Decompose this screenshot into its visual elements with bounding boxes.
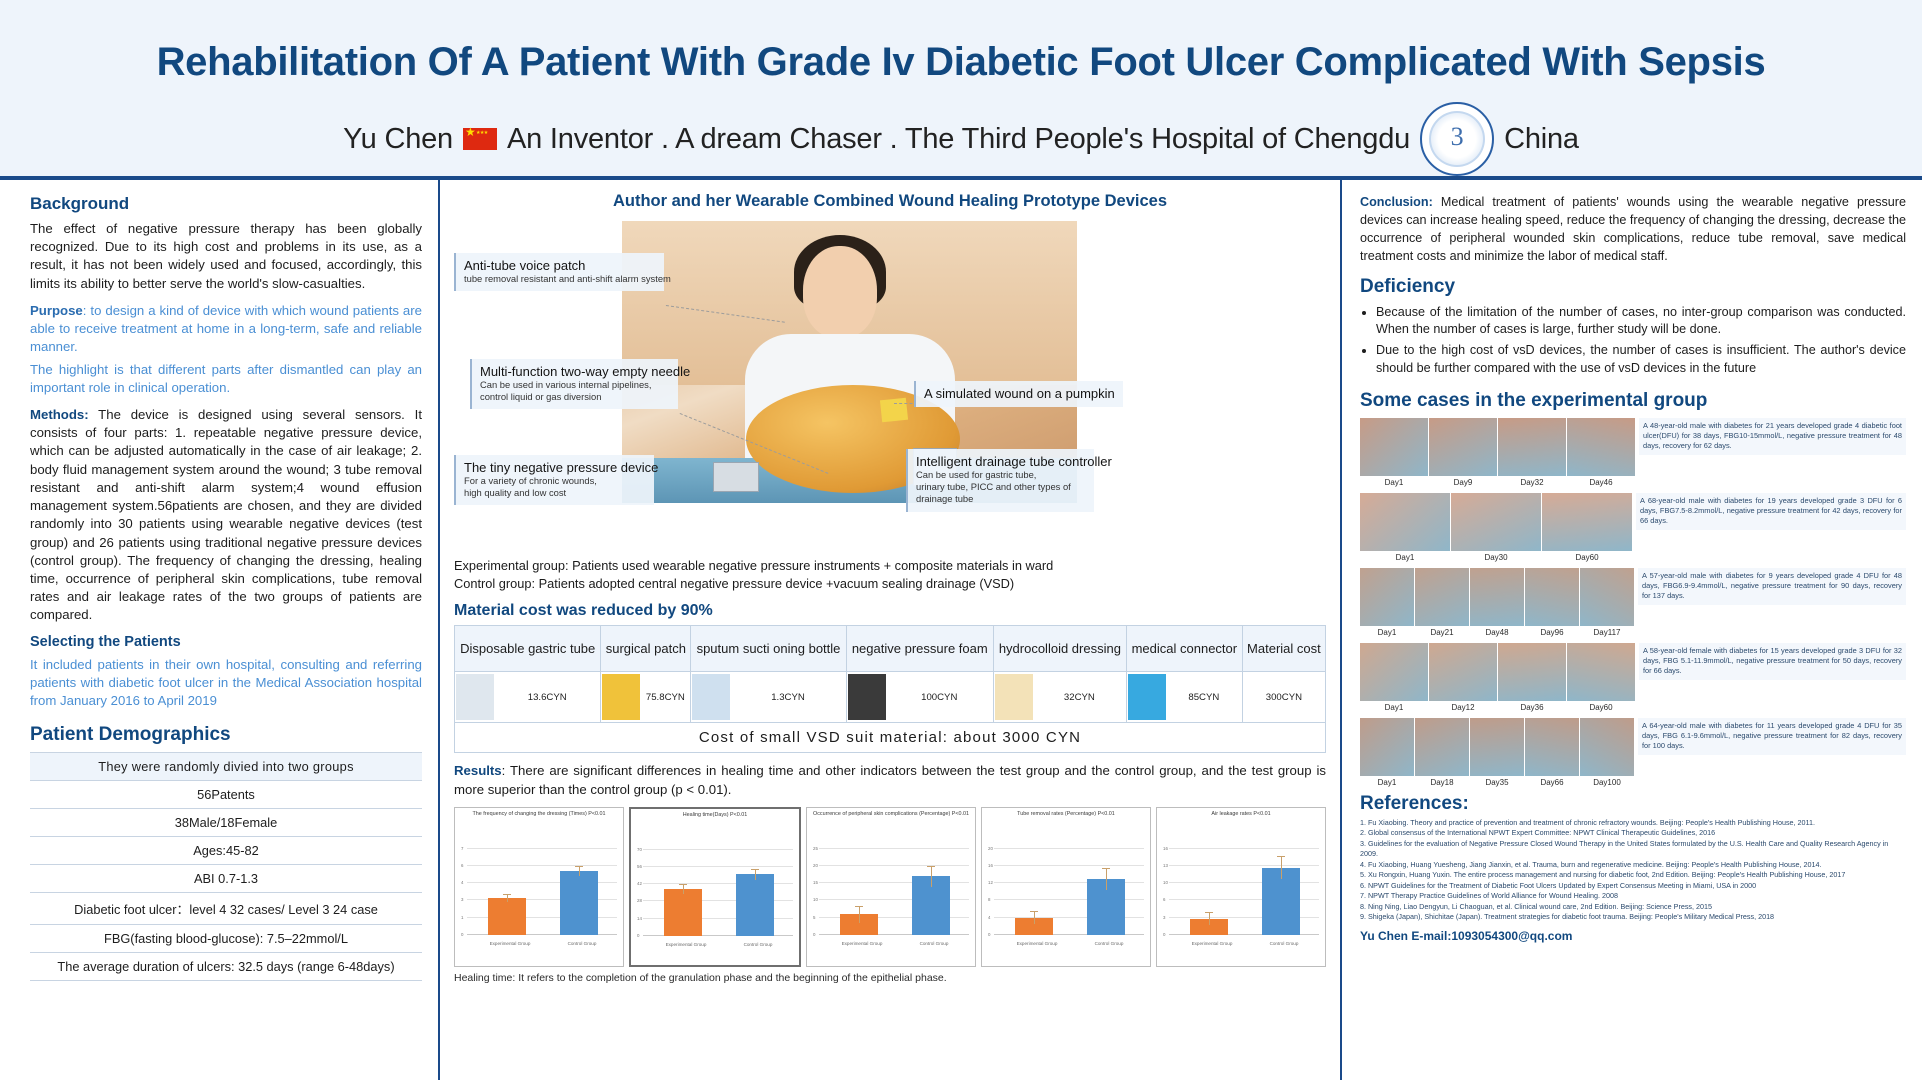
- purpose-label: Purpose: [30, 303, 83, 318]
- case-day-label: Day32: [1498, 476, 1566, 487]
- case-rows: Day1Day9Day32Day46A 48-year-old male wit…: [1360, 418, 1906, 787]
- callout-title: Anti-tube voice patch: [464, 258, 656, 273]
- case-photo: [1451, 493, 1541, 551]
- case-photo: [1498, 643, 1566, 701]
- cost-total-text: Cost of small VSD suit material: about 3…: [455, 723, 1326, 753]
- case-photo: [1525, 718, 1579, 776]
- case-image-strip: Day1Day30Day60: [1360, 493, 1632, 562]
- y-tick-label: 3: [461, 897, 463, 902]
- callout-title: Multi-function two-way empty needle: [480, 364, 670, 379]
- photo-person-head: [803, 246, 877, 338]
- prototype-section-heading: Author and her Wearable Combined Wound H…: [454, 192, 1326, 211]
- cost-column-header: negative pressure foam: [846, 626, 993, 672]
- error-bar-cap: [751, 869, 760, 870]
- callout-tiny-negative-pressure-device: The tiny negative pressure device For a …: [454, 455, 654, 505]
- material-cost-table: Disposable gastric tubesurgical patchspu…: [454, 625, 1326, 753]
- case-photo: [1567, 643, 1635, 701]
- case-photo: [1429, 418, 1497, 476]
- case-photo: [1580, 568, 1634, 626]
- deficiency-heading: Deficiency: [1360, 276, 1906, 298]
- china-flag-icon: [463, 128, 497, 150]
- case-day-label: Day35: [1470, 776, 1524, 787]
- case-photo: [1580, 718, 1634, 776]
- y-tick-label: 0: [461, 932, 463, 937]
- table-row: FBG(fasting blood-glucose): 7.5–22mmol/L: [30, 925, 422, 953]
- y-tick-label: 70: [637, 847, 642, 852]
- case-description: A 58-year-old female with diabetes for 1…: [1639, 643, 1906, 680]
- page-title: Rehabilitation Of A Patient With Grade I…: [0, 14, 1922, 84]
- y-tick-label: 25: [813, 846, 818, 851]
- photo-wound-patch: [880, 397, 908, 422]
- callout-two-way-empty-needle: Multi-function two-way empty needle Can …: [470, 359, 678, 409]
- error-bar: [1281, 856, 1282, 880]
- bar: [560, 871, 597, 935]
- x-tick-labels: Experimental GroupControl Group: [647, 942, 791, 947]
- case-day-label: Day1: [1360, 476, 1428, 487]
- material-thumbnail: [692, 674, 730, 720]
- case-day-label: Day36: [1498, 701, 1566, 712]
- error-bar-cap: [1277, 856, 1286, 857]
- callout-intelligent-drainage-controller: Intelligent drainage tube controller Can…: [906, 449, 1094, 512]
- case-day-label: Day1: [1360, 701, 1428, 712]
- table-row: 56Patents: [30, 781, 422, 809]
- cost-column-value: 85CYN: [1126, 672, 1242, 723]
- case-photo: [1360, 718, 1414, 776]
- case-image-strip: Day1Day21Day48Day96Day117: [1360, 568, 1634, 637]
- cost-header-row: Disposable gastric tubesurgical patchspu…: [455, 626, 1326, 672]
- x-tick-label: Experimental Group: [1192, 941, 1233, 946]
- cases-heading: Some cases in the experimental group: [1360, 390, 1906, 412]
- cost-column-value: 75.8CYN: [601, 672, 691, 723]
- cost-column-value: 1.3CYN: [691, 672, 846, 723]
- case-day-label: Day1: [1360, 626, 1414, 637]
- case-image-strip: Day1Day9Day32Day46: [1360, 418, 1635, 487]
- y-tick-label: 42: [637, 881, 642, 886]
- material-thumbnail: [456, 674, 494, 720]
- cost-column-header: Material cost: [1242, 626, 1325, 672]
- bar: [1190, 919, 1227, 935]
- reference-item: 1. Fu Xiaobing. Theory and practice of p…: [1360, 818, 1906, 828]
- methods-paragraph: Methods: The device is designed using se…: [30, 406, 422, 625]
- case-day-label: Day60: [1567, 701, 1635, 712]
- methods-label: Methods:: [30, 407, 89, 422]
- cost-column-header: hydrocolloid dressing: [993, 626, 1126, 672]
- case-description: A 68-year-old male with diabetes for 19 …: [1636, 493, 1906, 530]
- case-description: A 48-year-old male with diabetes for 21 …: [1639, 418, 1906, 455]
- bar: [488, 898, 525, 935]
- case-photo: [1542, 493, 1632, 551]
- x-tick-label: Control Group: [568, 941, 597, 946]
- cost-column-value: 13.6CYN: [455, 672, 601, 723]
- case-description: A 64-year-old male with diabetes for 11 …: [1638, 718, 1906, 755]
- author-line: Yu Chen An Inventor . A dream Chaser . T…: [0, 102, 1922, 176]
- reference-item: 5. Xu Rongxin, Huang Yuxin. The entire p…: [1360, 870, 1906, 880]
- case-row: Day1Day30Day60A 68-year-old male with di…: [1360, 493, 1906, 562]
- case-row: Day1Day9Day32Day46A 48-year-old male wit…: [1360, 418, 1906, 487]
- deficiency-list: Because of the limitation of the number …: [1376, 304, 1906, 379]
- y-tick-label: 20: [813, 863, 818, 868]
- bar-series: [823, 837, 967, 935]
- callout-title: The tiny negative pressure device: [464, 460, 646, 475]
- case-day-label: Day1: [1360, 551, 1450, 562]
- reference-item: 9. Shigeka (Japan), Shichitae (Japan). T…: [1360, 912, 1906, 922]
- case-photo: [1415, 718, 1469, 776]
- poster-columns: Background The effect of negative pressu…: [0, 180, 1922, 1080]
- callout-simulated-wound: A simulated wound on a pumpkin: [914, 381, 1123, 407]
- case-row: Day1Day12Day36Day60A 58-year-old female …: [1360, 643, 1906, 712]
- chart-title: Air leakage rates P<0.01: [1159, 811, 1323, 835]
- cost-column-value: 32CYN: [993, 672, 1126, 723]
- column-middle: Author and her Wearable Combined Wound H…: [440, 180, 1342, 1080]
- callout-sub: Can be used in various internal pipeline…: [480, 379, 670, 403]
- material-price: 32CYN: [1033, 692, 1126, 703]
- table-row: Ages:45-82: [30, 837, 422, 865]
- conclusion-paragraph: Conclusion: Medical treatment of patient…: [1360, 194, 1906, 266]
- demographics-cell: 38Male/18Female: [30, 809, 422, 837]
- y-tick-label: 15: [813, 880, 818, 885]
- material-price: 85CYN: [1166, 692, 1242, 703]
- demographics-cell: FBG(fasting blood-glucose): 7.5–22mmol/L: [30, 925, 422, 953]
- table-row: Diabetic foot ulcer：level 4 32 cases/ Le…: [30, 893, 422, 925]
- cost-column-value: 100CYN: [846, 672, 993, 723]
- case-day-label: Day9: [1429, 476, 1497, 487]
- results-charts: The frequency of changing the dressing (…: [454, 807, 1326, 967]
- y-tick-label: 14: [637, 916, 642, 921]
- y-tick-label: 4: [461, 880, 463, 885]
- demographics-rows: They were randomly divied into two group…: [30, 753, 422, 981]
- affiliation-text: An Inventor . A dream Chaser . The Third…: [507, 123, 1410, 156]
- case-day-label: Day12: [1429, 701, 1497, 712]
- poster-canvas: Rehabilitation Of A Patient With Grade I…: [0, 0, 1922, 1080]
- case-photo: [1525, 568, 1579, 626]
- bar: [1262, 868, 1299, 935]
- x-tick-label: Experimental Group: [1017, 941, 1058, 946]
- background-heading: Background: [30, 194, 422, 214]
- cost-column-header: surgical patch: [601, 626, 691, 672]
- list-item: Because of the limitation of the number …: [1376, 304, 1906, 340]
- y-tick-label: 0: [1163, 932, 1165, 937]
- bar-chart: Healing time(Days) P<0.0101428425670Expe…: [629, 807, 801, 967]
- case-day-label: Day46: [1567, 476, 1635, 487]
- case-photo: [1429, 643, 1497, 701]
- bar-chart: Occurrence of peripheral skin complicati…: [806, 807, 976, 967]
- chart-plot-area: 048121620Experimental GroupControl Group: [988, 835, 1144, 947]
- callout-sub: tube removal resistant and anti-shift al…: [464, 273, 656, 285]
- callout-title: Intelligent drainage tube controller: [916, 454, 1086, 469]
- case-row: Day1Day18Day35Day66Day100A 64-year-old m…: [1360, 718, 1906, 787]
- reference-item: 7. NPWT Therapy Practice Guidelines of W…: [1360, 891, 1906, 901]
- bar: [736, 874, 773, 935]
- case-day-label: Day60: [1542, 551, 1632, 562]
- selecting-heading: Selecting the Patients: [30, 634, 422, 650]
- bar-chart: Air leakage rates P<0.01036101316Experim…: [1156, 807, 1326, 967]
- error-bar: [507, 894, 508, 903]
- bar: [1087, 879, 1124, 935]
- chart-plot-area: 013467Experimental GroupControl Group: [461, 835, 617, 947]
- demographics-cell: 56Patents: [30, 781, 422, 809]
- results-text: : There are significant differences in h…: [454, 763, 1326, 797]
- x-tick-label: Control Group: [744, 942, 773, 947]
- error-bar: [683, 884, 684, 894]
- error-bar-cap: [503, 894, 512, 895]
- selecting-text: It included patients in their own hospit…: [30, 656, 422, 711]
- x-tick-label: Experimental Group: [666, 942, 707, 947]
- y-tick-label: 12: [988, 880, 993, 885]
- case-photo: [1470, 568, 1524, 626]
- list-item: Due to the high cost of vsD devices, the…: [1376, 342, 1906, 378]
- error-bar-cap: [855, 906, 864, 907]
- material-thumbnail: [602, 674, 640, 720]
- reference-item: 4. Fu Xiaobing, Huang Yuesheng, Jiang Ji…: [1360, 860, 1906, 870]
- material-thumbnail: [995, 674, 1033, 720]
- case-photo: [1415, 568, 1469, 626]
- case-photo: [1360, 568, 1414, 626]
- references-list: 1. Fu Xiaobing. Theory and practice of p…: [1360, 818, 1906, 922]
- bar: [840, 914, 877, 935]
- contact-email: Yu Chen E-mail:1093054300@qq.com: [1360, 929, 1906, 943]
- material-thumbnail: [1128, 674, 1166, 720]
- bar: [664, 889, 701, 936]
- error-bar-cap: [927, 866, 936, 867]
- chart-title: Occurrence of peripheral skin complicati…: [809, 811, 973, 835]
- x-tick-labels: Experimental GroupControl Group: [998, 941, 1142, 946]
- column-right: Conclusion: Medical treatment of patient…: [1342, 180, 1922, 1080]
- bar-series: [998, 837, 1142, 935]
- y-tick-label: 56: [637, 864, 642, 869]
- control-group-line: Control group: Patients adopted central …: [454, 575, 1326, 593]
- chart-plot-area: 036101316Experimental GroupControl Group: [1163, 835, 1319, 947]
- bar-chart: Tube removal rates (Percentage) P<0.0104…: [981, 807, 1151, 967]
- callout-sub: Can be used for gastric tube, urinary tu…: [916, 469, 1086, 506]
- bar-chart: The frequency of changing the dressing (…: [454, 807, 624, 967]
- hospital-seal-icon: 3: [1420, 102, 1494, 176]
- error-bar: [755, 869, 756, 880]
- y-tick-label: 6: [461, 863, 463, 868]
- case-day-label: Day18: [1415, 776, 1469, 787]
- results-paragraph: Results: There are significant differenc…: [454, 762, 1326, 799]
- cost-column-header: sputum sucti oning bottle: [691, 626, 846, 672]
- y-tick-label: 6: [1163, 897, 1165, 902]
- highlight-text: The highlight is that different parts af…: [30, 361, 422, 397]
- y-tick-label: 3: [1163, 915, 1165, 920]
- chart-plot-area: 0510152025Experimental GroupControl Grou…: [813, 835, 969, 947]
- callout-anti-tube-voice-patch: Anti-tube voice patch tube removal resis…: [454, 253, 664, 291]
- chart-title: The frequency of changing the dressing (…: [457, 811, 621, 835]
- demographics-cell: They were randomly divied into two group…: [30, 753, 422, 781]
- healing-time-note: Healing time: It refers to the completio…: [454, 972, 1326, 984]
- purpose-text: : to design a kind of device with which …: [30, 303, 422, 354]
- case-photo: [1470, 718, 1524, 776]
- cost-total-row: Cost of small VSD suit material: about 3…: [455, 723, 1326, 753]
- error-bar-cap: [1205, 912, 1214, 913]
- table-row: ABI 0.7-1.3: [30, 865, 422, 893]
- material-price: 13.6CYN: [494, 692, 600, 703]
- error-bar-cap: [1030, 911, 1039, 912]
- y-tick-label: 8: [988, 897, 990, 902]
- y-tick-label: 13: [1163, 863, 1168, 868]
- x-tick-label: Experimental Group: [842, 941, 883, 946]
- table-row: The average duration of ulcers: 32.5 day…: [30, 953, 422, 981]
- case-photo: [1498, 418, 1566, 476]
- material-price: 300CYN: [1243, 692, 1325, 703]
- x-tick-labels: Experimental GroupControl Group: [823, 941, 967, 946]
- photo-device-left: [713, 462, 759, 492]
- reference-item: 2. Global consensus of the International…: [1360, 828, 1906, 838]
- chart-plot-area: 01428425670Experimental GroupControl Gro…: [637, 836, 793, 948]
- case-day-label: Day1: [1360, 776, 1414, 787]
- case-day-label: Day48: [1470, 626, 1524, 637]
- case-image-strip: Day1Day12Day36Day60: [1360, 643, 1635, 712]
- case-day-label: Day30: [1451, 551, 1541, 562]
- poster-header: Rehabilitation Of A Patient With Grade I…: [0, 0, 1922, 180]
- column-left: Background The effect of negative pressu…: [0, 180, 440, 1080]
- chart-title: Healing time(Days) P<0.01: [633, 812, 797, 836]
- error-bar-cap: [575, 866, 584, 867]
- y-tick-label: 28: [637, 898, 642, 903]
- x-tick-label: Experimental Group: [490, 941, 531, 946]
- case-day-label: Day117: [1580, 626, 1634, 637]
- demographics-cell: The average duration of ulcers: 32.5 day…: [30, 953, 422, 981]
- table-row: They were randomly divied into two group…: [30, 753, 422, 781]
- error-bar: [1106, 868, 1107, 890]
- case-day-label: Day66: [1525, 776, 1579, 787]
- y-tick-label: 10: [813, 897, 818, 902]
- author-name: Yu Chen: [343, 123, 453, 156]
- results-label: Results: [454, 763, 502, 778]
- chart-title: Tube removal rates (Percentage) P<0.01: [984, 811, 1148, 835]
- demographics-cell: ABI 0.7-1.3: [30, 865, 422, 893]
- demographics-heading: Patient Demographics: [30, 724, 422, 746]
- x-tick-labels: Experimental GroupControl Group: [1173, 941, 1317, 946]
- country-text: China: [1504, 123, 1579, 156]
- case-day-label: Day21: [1415, 626, 1469, 637]
- x-tick-label: Control Group: [1095, 941, 1124, 946]
- reference-item: 8. Ning Ning, Liao Dengyun, Li Chaoguan,…: [1360, 902, 1906, 912]
- case-row: Day1Day21Day48Day96Day117A 57-year-old m…: [1360, 568, 1906, 637]
- callout-title: A simulated wound on a pumpkin: [924, 386, 1115, 401]
- y-tick-label: 4: [988, 915, 990, 920]
- x-tick-labels: Experimental GroupControl Group: [471, 941, 615, 946]
- y-tick-label: 0: [988, 932, 990, 937]
- case-photo: [1360, 418, 1428, 476]
- conclusion-label: Conclusion:: [1360, 195, 1433, 209]
- error-bar: [931, 866, 932, 887]
- error-bar: [859, 906, 860, 923]
- y-tick-label: 7: [461, 846, 463, 851]
- case-photo: [1360, 643, 1428, 701]
- bar-series: [1173, 837, 1317, 935]
- reference-item: 6. NPWT Guidelines for the Treatment of …: [1360, 881, 1906, 891]
- cost-value-row: 13.6CYN75.8CYN1.3CYN100CYN32CYN85CYN300C…: [455, 672, 1326, 723]
- conclusion-text: Medical treatment of patients' wounds us…: [1360, 195, 1906, 263]
- error-bar: [1209, 912, 1210, 925]
- case-photo: [1567, 418, 1635, 476]
- y-tick-label: 16: [988, 863, 993, 868]
- case-photo: [1360, 493, 1450, 551]
- y-tick-label: 0: [637, 933, 639, 938]
- error-bar: [579, 866, 580, 876]
- bar: [912, 876, 949, 934]
- case-day-label: Day96: [1525, 626, 1579, 637]
- demographics-cell: Ages:45-82: [30, 837, 422, 865]
- material-price: 75.8CYN: [640, 692, 690, 703]
- bar-series: [647, 838, 791, 936]
- y-tick-label: 10: [1163, 880, 1168, 885]
- prototype-photo-stage: Anti-tube voice patch tube removal resis…: [454, 217, 1326, 547]
- material-price: 100CYN: [886, 692, 993, 703]
- purpose-paragraph: Purpose: to design a kind of device with…: [30, 302, 422, 357]
- cost-heading: Material cost was reduced by 90%: [454, 602, 1326, 620]
- patient-demographics-table: They were randomly divied into two group…: [30, 752, 422, 981]
- x-tick-label: Control Group: [1270, 941, 1299, 946]
- error-bar-cap: [679, 884, 688, 885]
- bar-series: [471, 837, 615, 935]
- y-tick-label: 16: [1163, 846, 1168, 851]
- x-tick-label: Control Group: [920, 941, 949, 946]
- experimental-group-line: Experimental group: Patients used wearab…: [454, 557, 1326, 575]
- references-heading: References:: [1360, 793, 1906, 815]
- methods-text: The device is designed using several sen…: [30, 407, 422, 622]
- cost-column-header: medical connector: [1126, 626, 1242, 672]
- background-text: The effect of negative pressure therapy …: [30, 220, 422, 293]
- bar: [1015, 918, 1052, 935]
- y-tick-label: 0: [813, 932, 815, 937]
- demographics-cell: Diabetic foot ulcer：level 4 32 cases/ Le…: [30, 893, 422, 925]
- y-tick-label: 20: [988, 846, 993, 851]
- case-day-label: Day100: [1580, 776, 1634, 787]
- error-bar-cap: [1102, 868, 1111, 869]
- cost-column-value: 300CYN: [1242, 672, 1325, 723]
- material-price: 1.3CYN: [730, 692, 845, 703]
- callout-sub: For a variety of chronic wounds, high qu…: [464, 475, 646, 499]
- case-description: A 57-year-old male with diabetes for 9 y…: [1638, 568, 1906, 605]
- y-tick-label: 1: [461, 915, 463, 920]
- reference-item: 3. Guidelines for the evaluation of Nega…: [1360, 839, 1906, 860]
- cost-column-header: Disposable gastric tube: [455, 626, 601, 672]
- error-bar: [1034, 911, 1035, 924]
- material-thumbnail: [848, 674, 886, 720]
- y-tick-label: 5: [813, 915, 815, 920]
- case-image-strip: Day1Day18Day35Day66Day100: [1360, 718, 1634, 787]
- table-row: 38Male/18Female: [30, 809, 422, 837]
